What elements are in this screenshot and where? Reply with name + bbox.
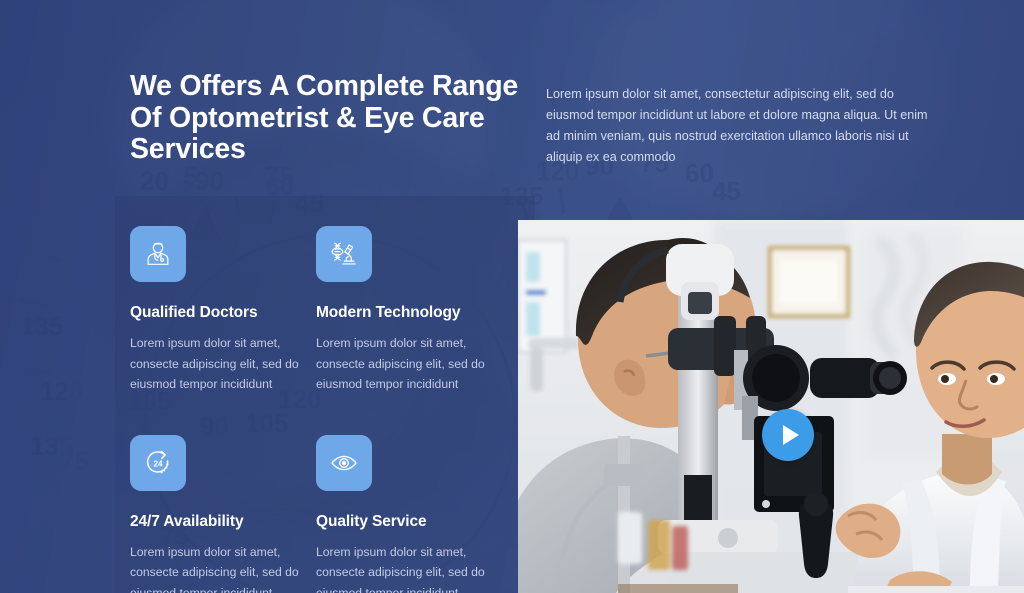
- play-button[interactable]: [762, 409, 814, 461]
- feature-item-qualified-doctors[interactable]: Qualified Doctors Lorem ipsum dolor sit …: [130, 226, 305, 395]
- feature-title: Qualified Doctors: [130, 304, 305, 322]
- feature-title: Modern Technology: [316, 304, 491, 322]
- feature-description: Lorem ipsum dolor sit amet, consecte adi…: [130, 333, 305, 395]
- feature-title: Quality Service: [316, 513, 491, 531]
- intro-paragraph: Lorem ipsum dolor sit amet, consectetur …: [546, 84, 936, 168]
- microscope-icon: [316, 226, 372, 282]
- page-title: We Offers A Complete Range Of Optometris…: [130, 71, 530, 166]
- play-icon: [783, 425, 799, 445]
- doctor-icon: [130, 226, 186, 282]
- feature-description: Lorem ipsum dolor sit amet, consecte adi…: [316, 333, 491, 395]
- feature-title: 24/7 Availability: [130, 513, 305, 531]
- feature-item-availability[interactable]: 24 24/7 Availability Lorem ipsum dolor s…: [130, 435, 305, 593]
- feature-item-quality-service[interactable]: Quality Service Lorem ipsum dolor sit am…: [316, 435, 491, 593]
- feature-description: Lorem ipsum dolor sit amet, consecte adi…: [130, 542, 305, 593]
- video-thumbnail[interactable]: [518, 220, 1024, 593]
- feature-description: Lorem ipsum dolor sit amet, consecte adi…: [316, 542, 491, 593]
- svg-text:24: 24: [153, 459, 163, 468]
- eye-icon: [316, 435, 372, 491]
- feature-item-modern-technology[interactable]: Modern Technology Lorem ipsum dolor sit …: [316, 226, 491, 395]
- services-section: 135 20 5 90 75 60 45 135 120 105 75 75 9…: [0, 0, 1024, 593]
- clock-24-icon: 24: [130, 435, 186, 491]
- feature-list: Qualified Doctors Lorem ipsum dolor sit …: [130, 226, 506, 593]
